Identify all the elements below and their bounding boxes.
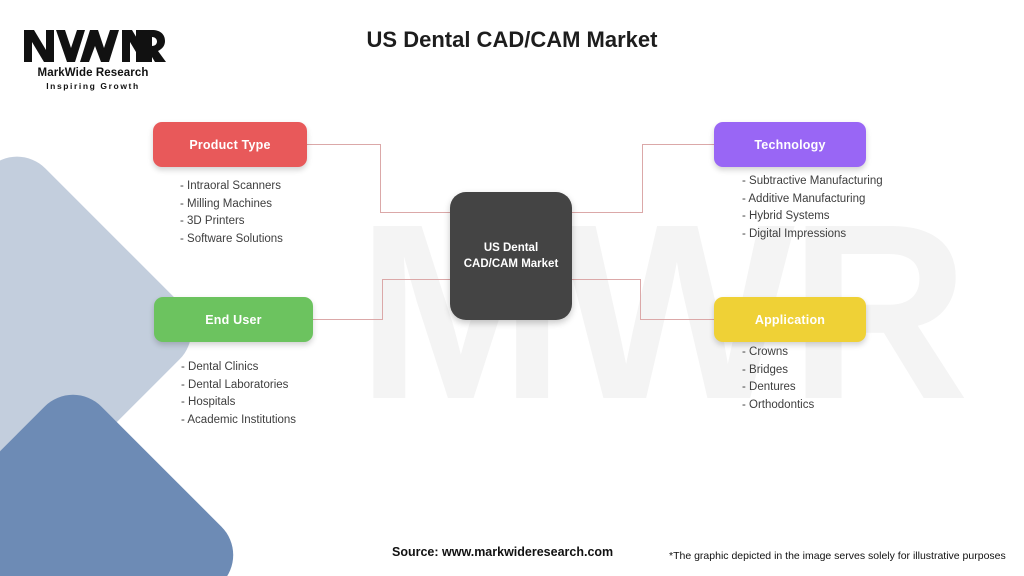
list-item: - Milling Machines	[180, 196, 283, 214]
connector-application-segment-1	[571, 279, 641, 280]
list-item: - Hybrid Systems	[742, 208, 883, 226]
category-list-product-type: - Intraoral Scanners - Milling Machines …	[180, 178, 283, 248]
connector-application-segment-2	[640, 279, 641, 320]
connector-end-user-segment-3	[382, 279, 452, 280]
category-list-technology: - Subtractive Manufacturing - Additive M…	[742, 173, 883, 243]
source-text: Source: www.markwideresearch.com	[392, 545, 613, 559]
connector-end-user-segment-1	[313, 319, 383, 320]
category-box-application[interactable]: Application	[714, 297, 866, 342]
list-item: - Crowns	[742, 344, 814, 362]
list-item: - Dental Laboratories	[181, 377, 296, 395]
category-list-end-user: - Dental Clinics - Dental Laboratories -…	[181, 359, 296, 429]
connector-end-user-segment-2	[382, 279, 383, 320]
category-label-product-type: Product Type	[189, 138, 270, 152]
list-item: - Academic Institutions	[181, 412, 296, 430]
connector-product-type-segment-2	[380, 144, 381, 213]
category-label-technology: Technology	[754, 138, 825, 152]
infographic-canvas: MWR MarkWide Research Inspiring Growth U…	[0, 0, 1024, 576]
category-label-application: Application	[755, 313, 825, 327]
center-node[interactable]: US Dental CAD/CAM Market	[450, 192, 572, 320]
category-list-application: - Crowns - Bridges - Dentures - Orthodon…	[742, 344, 814, 414]
connector-technology-segment-1	[571, 212, 643, 213]
list-item: - Dentures	[742, 379, 814, 397]
category-box-product-type[interactable]: Product Type	[153, 122, 307, 167]
category-label-end-user: End User	[205, 313, 261, 327]
category-box-technology[interactable]: Technology	[714, 122, 866, 167]
list-item: - Orthodontics	[742, 397, 814, 415]
list-item: - Intraoral Scanners	[180, 178, 283, 196]
disclaimer-text: *The graphic depicted in the image serve…	[669, 550, 1006, 562]
category-box-end-user[interactable]: End User	[154, 297, 313, 342]
list-item: - Software Solutions	[180, 231, 283, 249]
logo-brand-name: MarkWide Research	[18, 67, 168, 79]
center-node-label: US Dental CAD/CAM Market	[458, 240, 564, 272]
list-item: - Bridges	[742, 362, 814, 380]
list-item: - Hospitals	[181, 394, 296, 412]
brand-watermark: MWR	[300, 182, 1020, 442]
connector-product-type-segment-3	[380, 212, 452, 213]
list-item: - 3D Printers	[180, 213, 283, 231]
page-title: US Dental CAD/CAM Market	[0, 27, 1024, 53]
connector-technology-segment-3	[642, 144, 716, 145]
connector-product-type-segment-1	[307, 144, 381, 145]
logo-tagline: Inspiring Growth	[18, 81, 168, 91]
list-item: - Digital Impressions	[742, 226, 883, 244]
list-item: - Additive Manufacturing	[742, 191, 883, 209]
list-item: - Subtractive Manufacturing	[742, 173, 883, 191]
list-item: - Dental Clinics	[181, 359, 296, 377]
connector-application-segment-3	[640, 319, 716, 320]
connector-technology-segment-2	[642, 144, 643, 213]
